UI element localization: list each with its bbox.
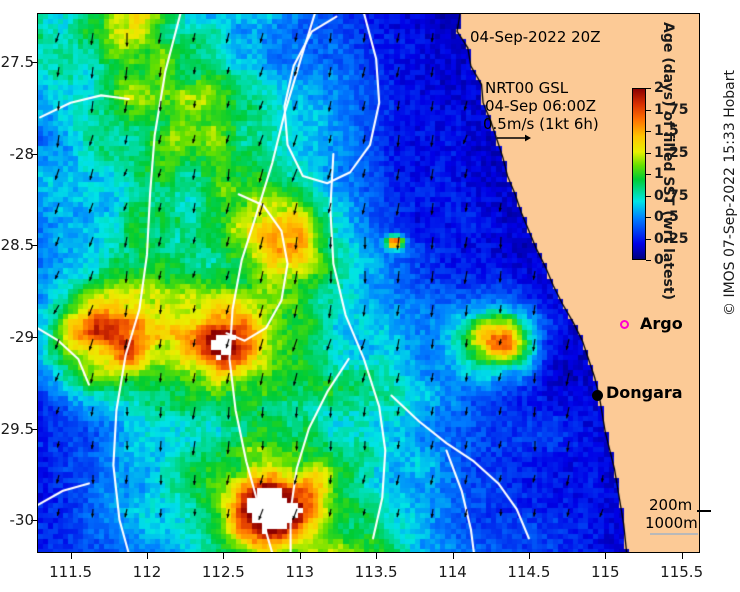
current-model-label: NRT00 GSL: [485, 79, 568, 97]
colorbar-tick: [646, 217, 651, 218]
colorbar-gradient: [632, 88, 646, 260]
x-tick: [682, 553, 683, 559]
x-tick-label: 111.5: [49, 563, 92, 581]
colorbar-tick: [646, 260, 651, 261]
dongara-city-marker-icon: [592, 390, 603, 401]
y-tick-label: -30: [10, 511, 35, 529]
colorbar-tick: [646, 153, 651, 154]
colorbar-tick: [646, 239, 651, 240]
current-scale-label: 0.5m/s (1kt 6h): [483, 115, 599, 133]
argo-legend-label: Argo: [640, 314, 683, 333]
credit-label: © IMOS 07-Sep-2022 15:33 Hobart: [722, 70, 738, 316]
y-tick-label: -28.5: [0, 236, 34, 254]
map-figure: 111.5112112.5113113.5114114.5115115.5 -2…: [0, 0, 740, 592]
map-plot-area[interactable]: [37, 13, 700, 553]
y-tick-label: -28: [10, 145, 35, 163]
x-tick: [376, 553, 377, 559]
colorbar-tick: [646, 174, 651, 175]
timestamp-label: 04-Sep-2022 20Z: [470, 28, 601, 46]
x-tick-label: 112: [133, 563, 162, 581]
x-tick-label: 113: [285, 563, 314, 581]
argo-legend-marker-icon: [620, 320, 629, 329]
x-tick-label: 114.5: [507, 563, 550, 581]
colorbar-tick: [646, 88, 651, 89]
colorbar: [632, 88, 646, 260]
x-tick: [453, 553, 454, 559]
dongara-city-label: Dongara: [606, 383, 683, 402]
x-tick: [529, 553, 530, 559]
x-tick-label: 113.5: [355, 563, 398, 581]
colorbar-tick: [646, 131, 651, 132]
y-tick-label: -29.5: [0, 420, 34, 438]
current-vector-layer: [37, 13, 700, 553]
x-tick: [300, 553, 301, 559]
colorbar-tick: [646, 110, 651, 111]
bathy-200m-line-sample: [697, 510, 711, 512]
x-tick-label: 115.5: [660, 563, 703, 581]
bathy-1000m-line-sample: [650, 533, 698, 535]
y-tick-label: -29: [10, 328, 35, 346]
x-tick: [147, 553, 148, 559]
x-tick-label: 114: [438, 563, 467, 581]
y-axis-labels: -27.5-28-28.5-29-29.5-30: [0, 0, 34, 592]
x-tick: [223, 553, 224, 559]
colorbar-tick: [646, 196, 651, 197]
current-time-label: 04-Sep 06:00Z: [485, 97, 596, 115]
bathy-200m-label: 200m: [649, 496, 692, 514]
x-tick: [71, 553, 72, 559]
colorbar-title: Age (days) of filled SST (wrt latest): [660, 22, 676, 300]
y-tick-label: -27.5: [0, 53, 34, 71]
bathy-1000m-label: 1000m: [645, 514, 698, 532]
reference-vector-arrow-icon: [497, 133, 531, 143]
x-tick-label: 115: [591, 563, 620, 581]
x-tick: [605, 553, 606, 559]
x-tick-label: 112.5: [202, 563, 245, 581]
